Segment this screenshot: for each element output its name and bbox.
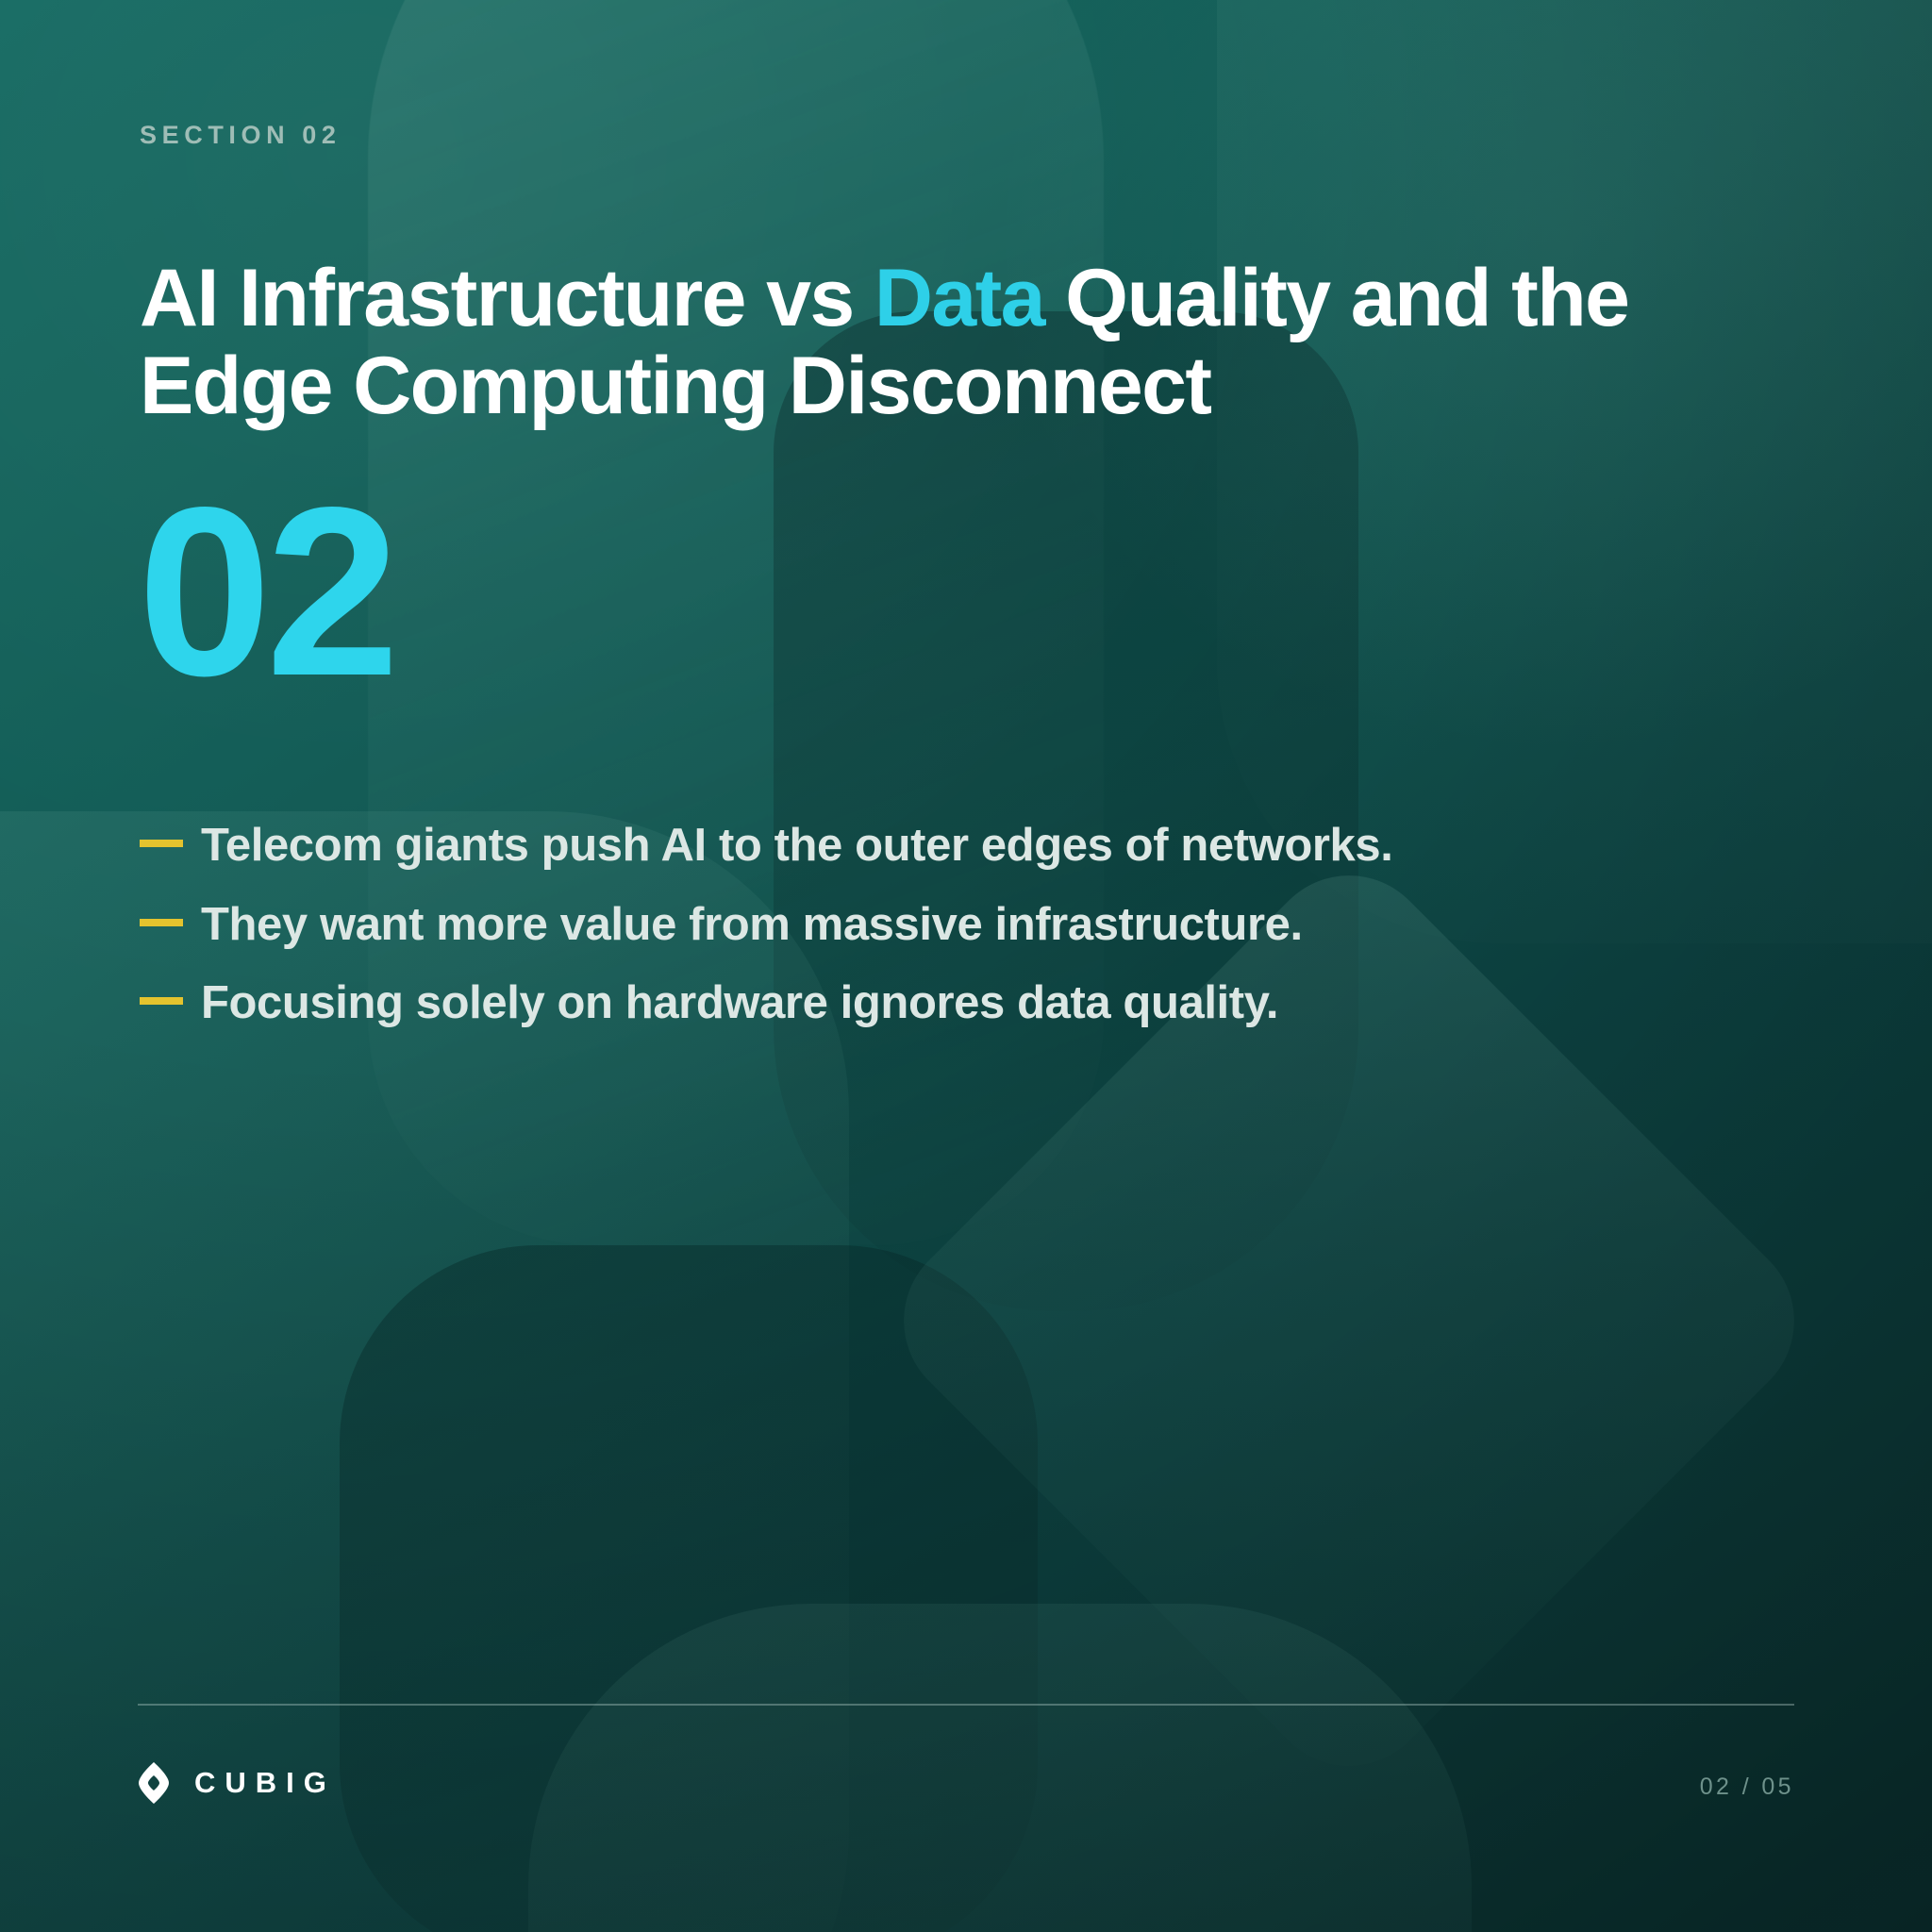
list-item-text: They want more value from massive infras…: [201, 899, 1303, 950]
list-item: Focusing solely on hardware ignores data…: [140, 971, 1800, 1037]
brand-logo-text: CUBIG: [194, 1766, 336, 1800]
page-counter: 02 / 05: [1700, 1774, 1794, 1801]
section-number-display: 02: [138, 472, 394, 712]
headline-highlight-word: Data: [874, 253, 1044, 343]
section-eyebrow-label: SECTION 02: [140, 121, 341, 150]
diamond-leaf-logo-icon: [138, 1762, 170, 1804]
dash-bullet-icon: [140, 919, 183, 926]
list-item: They want more value from massive infras…: [140, 892, 1800, 958]
list-item: Telecom giants push AI to the outer edge…: [140, 813, 1800, 879]
page-title: AI Infrastructure vs Data Quality and th…: [140, 255, 1724, 431]
list-item-text: Telecom giants push AI to the outer edge…: [201, 820, 1392, 871]
slide-canvas: SECTION 02 AI Infrastructure vs Data Qua…: [0, 0, 1932, 1932]
list-item-text: Focusing solely on hardware ignores data…: [201, 977, 1278, 1028]
dash-bullet-icon: [140, 840, 183, 847]
slide-content: SECTION 02 AI Infrastructure vs Data Qua…: [0, 0, 1932, 1932]
dash-bullet-icon: [140, 997, 183, 1005]
footer-divider: [138, 1704, 1794, 1706]
bullet-list: Telecom giants push AI to the outer edge…: [140, 813, 1800, 1050]
brand-logo: CUBIG: [138, 1762, 336, 1804]
headline-part-before: AI Infrastructure vs: [140, 253, 874, 343]
